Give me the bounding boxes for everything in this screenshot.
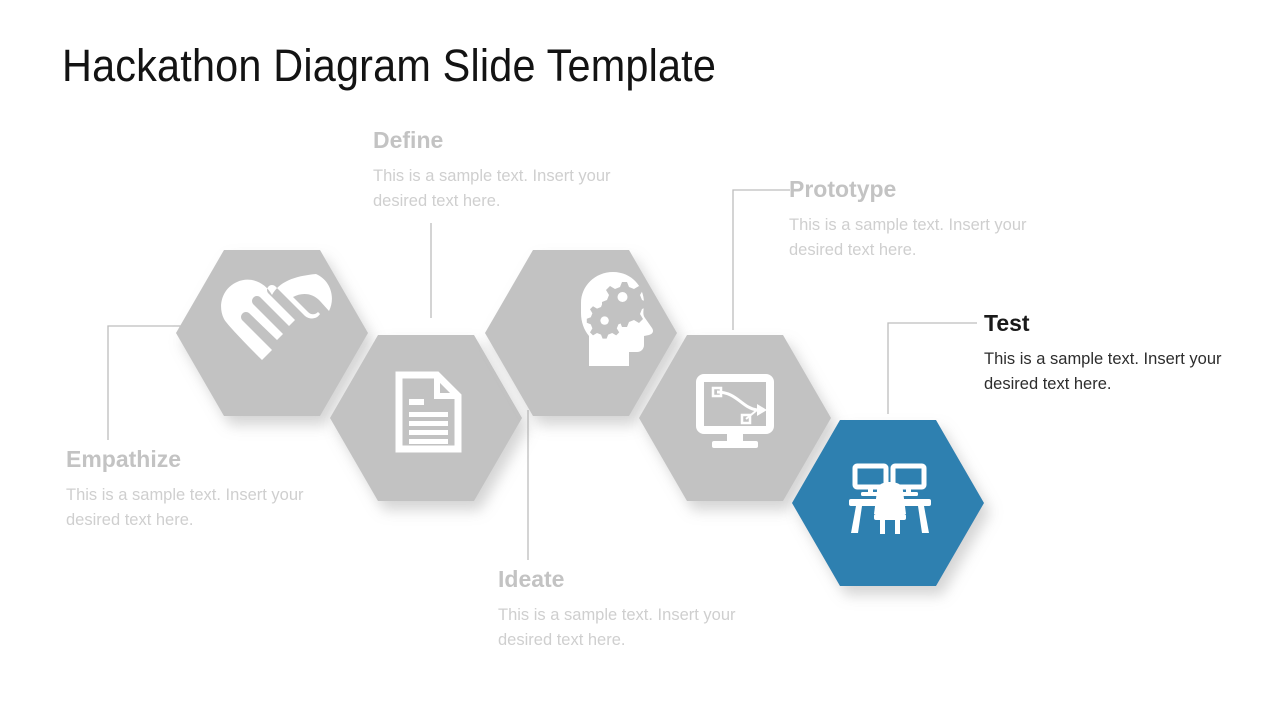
hexagon-process-diagram: Empathize This is a sample text. Insert … [0, 0, 1280, 720]
step-body-define: This is a sample text. Insert your desir… [373, 164, 613, 215]
step-title-test: Test [984, 310, 1224, 338]
step-text-prototype: Prototype This is a sample text. Insert … [789, 176, 1034, 264]
step-body-empathize: This is a sample text. Insert your desir… [66, 483, 311, 534]
step-body-test: This is a sample text. Insert your desir… [984, 347, 1224, 398]
hexagon-prototype[interactable] [639, 335, 831, 501]
step-text-empathize: Empathize This is a sample text. Insert … [66, 446, 311, 534]
step-title-ideate: Ideate [498, 566, 738, 594]
connector-prototype [733, 190, 790, 330]
step-title-empathize: Empathize [66, 446, 311, 474]
step-text-ideate: Ideate This is a sample text. Insert you… [498, 566, 738, 654]
step-text-test: Test This is a sample text. Insert your … [984, 310, 1224, 398]
step-title-prototype: Prototype [789, 176, 1034, 204]
connector-test [888, 323, 977, 414]
step-text-define: Define This is a sample text. Insert you… [373, 127, 613, 215]
step-title-define: Define [373, 127, 613, 155]
hexagon-define[interactable] [330, 335, 522, 501]
step-body-ideate: This is a sample text. Insert your desir… [498, 603, 738, 654]
slide-canvas: Hackathon Diagram Slide Template [0, 0, 1280, 720]
step-body-prototype: This is a sample text. Insert your desir… [789, 213, 1034, 264]
